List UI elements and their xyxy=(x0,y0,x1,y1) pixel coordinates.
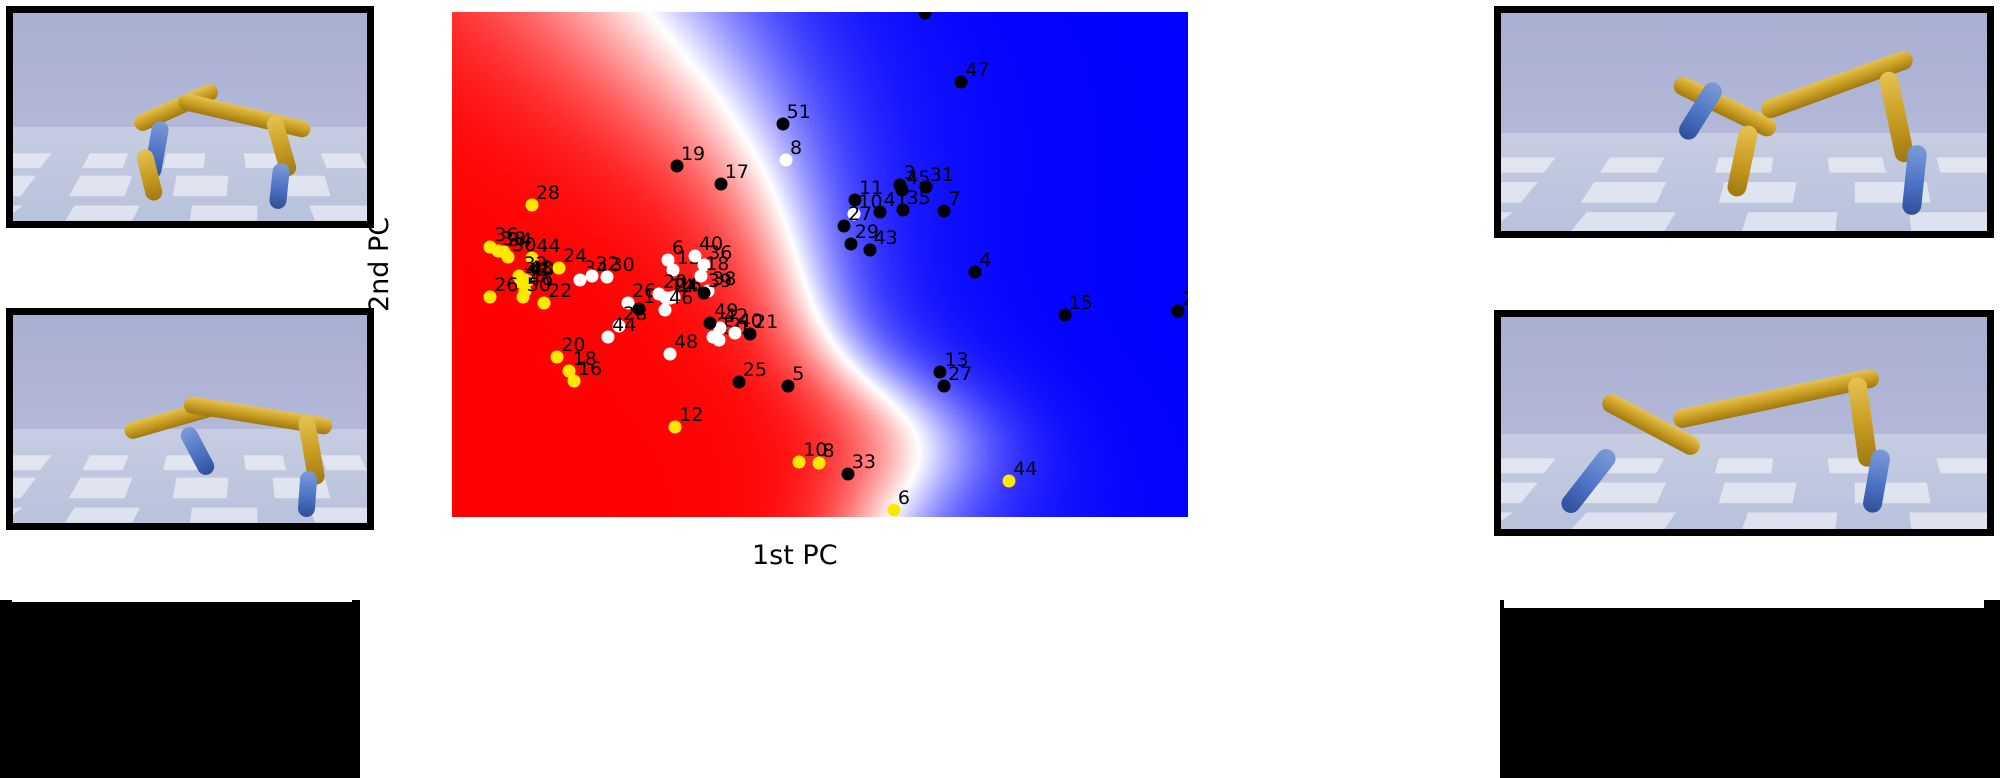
scatter-point-label: 22 xyxy=(548,282,572,301)
robot-snapshot-top-right xyxy=(1494,6,1994,238)
scatter-point-label: 12 xyxy=(679,406,703,425)
scatter-point-label: 26 xyxy=(494,276,518,295)
reward-curve-bottom-right xyxy=(1504,538,1984,608)
scatter-point xyxy=(919,12,932,20)
scatter-point-label: 44 xyxy=(1013,460,1037,479)
scatter-markers: 2836383430443248424024462650222018161210… xyxy=(452,12,1188,517)
scatter-point-label: 16 xyxy=(578,360,602,379)
scatter-point-label: 46 xyxy=(669,289,693,308)
scatter-point-label: 6 xyxy=(898,489,910,508)
reward-curve-top-right xyxy=(1504,240,1984,310)
robot-snapshot-bottom-left xyxy=(6,308,374,530)
scatter-point-label: 33 xyxy=(852,453,876,472)
robot-snapshot-bottom-right xyxy=(1494,310,1994,536)
scatter-point-label: 5 xyxy=(792,365,804,384)
scatter-point-label: 30 xyxy=(611,256,635,275)
scatter-point-label: 27 xyxy=(848,205,872,224)
scatter-point-label: 47 xyxy=(965,61,989,80)
checker-floor-icon xyxy=(1501,434,1987,529)
scatter-point-label: 23 xyxy=(1182,290,1188,309)
scatter-point-label: 25 xyxy=(743,361,767,380)
reward-curve-top-left xyxy=(12,232,352,300)
x-axis-label: 1st PC xyxy=(752,540,838,571)
plot-area: 2836383430443248424024462650222018161210… xyxy=(452,12,1188,517)
checker-floor-icon xyxy=(13,127,367,221)
scatter-point-label: 51 xyxy=(787,103,811,122)
robot-link-blue xyxy=(297,470,317,517)
scatter-point-label: 44 xyxy=(612,316,636,335)
scatter-point-label: 31 xyxy=(930,166,954,185)
scatter-point-label: 35 xyxy=(907,189,931,208)
y-axis-label: 2nd PC xyxy=(364,217,395,312)
scatter-point-label: 27 xyxy=(948,365,972,384)
robot-snapshot-top-left xyxy=(6,6,374,228)
scatter-point-label: 7 xyxy=(948,190,960,209)
scatter-point-label: 28 xyxy=(536,184,560,203)
scatter-point-label: 43 xyxy=(874,229,898,248)
reward-curve-bottom-left xyxy=(12,534,352,602)
scatter-point-label: 17 xyxy=(725,163,749,182)
pca-plot: 2836383430443248424024462650222018161210… xyxy=(452,12,1492,572)
scatter-point-label: 49 xyxy=(714,302,738,321)
scatter-point-label: 19 xyxy=(681,145,705,164)
scatter-point-label: 1 xyxy=(643,288,655,307)
scatter-point-label: 11 xyxy=(859,179,883,198)
scatter-point-label: 8 xyxy=(823,442,835,461)
scatter-point-label: 21 xyxy=(754,313,778,332)
scatter-point-label: 15 xyxy=(1069,294,1093,313)
scatter-point-label: 4 xyxy=(979,251,991,270)
scatter-point-label: 48 xyxy=(674,333,698,352)
sky-background xyxy=(1501,317,1987,434)
scatter-point-label: 8 xyxy=(790,139,802,158)
scatter-point-label: 39 xyxy=(708,272,732,291)
